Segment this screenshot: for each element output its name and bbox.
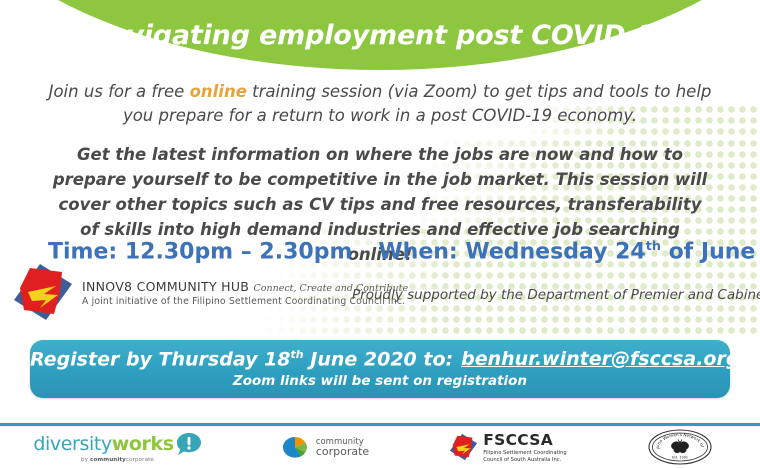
time-label: Time: 12.30pm – 2.30pm: [48, 239, 352, 264]
community-corporate-wordmark: community corporate: [316, 438, 369, 456]
diversity-works-subline: by communitycorporate: [81, 457, 154, 463]
register-mid: June 2020 to:: [304, 348, 453, 370]
corporate-word: corporate: [316, 447, 369, 456]
community-corporate-swirl-icon: [281, 434, 311, 460]
diversity-works-wordmark: diversity works: [33, 432, 201, 456]
flyer-page: Navigating employment post COVID-19 Join…: [0, 0, 760, 468]
register-banner: Register by Thursday 18th June 2020 to:b…: [30, 340, 730, 398]
footer-slot-community-corporate: community corporate: [235, 426, 415, 468]
innov8-diamond-icon: [10, 262, 74, 324]
dw-sub-rest: corporate: [126, 457, 154, 463]
diversity-word: diversity: [33, 433, 111, 455]
register-email-link[interactable]: benhur.winter@fsccsa.org.au: [461, 348, 760, 370]
footer-slot-diversity-works: diversity works by communitycorporate: [0, 426, 235, 468]
when-label: When: Wednesday 24: [378, 239, 645, 264]
fsccsa-subline-1: Filipino Settlement Coordinating: [483, 450, 566, 456]
online-highlight: online: [190, 82, 247, 101]
register-line-primary: Register by Thursday 18th June 2020 to:b…: [30, 348, 730, 370]
dw-sub-prefix: by: [81, 457, 90, 463]
register-ordinal: th: [291, 348, 304, 361]
register-line-secondary: Zoom links will be sent on registration: [30, 373, 730, 389]
dw-sub-bold: community: [90, 457, 126, 463]
fsccsa-diamond-icon: [448, 433, 478, 462]
innov8-name: INNOV8 COMMUNITY HUB: [82, 279, 249, 294]
fsccsa-logo: FSCCSA Filipino Settlement Coordinating …: [448, 431, 566, 464]
community-corporate-logo: community corporate: [281, 434, 369, 460]
intro-text-before: Join us for a free: [49, 82, 190, 101]
fsccsa-text-block: FSCCSA Filipino Settlement Coordinating …: [483, 431, 566, 464]
fsccsa-acronym: FSCCSA: [483, 431, 566, 449]
when-ordinal: th: [646, 239, 661, 254]
speech-bubble-icon: [176, 432, 202, 456]
works-word: works: [112, 433, 174, 455]
footer-logo-bar: diversity works by communitycorporate: [0, 426, 760, 468]
innov8-logo-block: INNOV8 COMMUNITY HUB Connect, Create and…: [10, 262, 408, 324]
when-suffix: of June: [661, 239, 755, 264]
svg-text:Est. 1991: Est. 1991: [672, 456, 688, 460]
register-prefix: Register by Thursday 18: [30, 348, 291, 370]
supported-by-text: Proudly supported by the Department of P…: [352, 287, 752, 303]
page-title: Navigating employment post COVID-19: [0, 20, 760, 51]
diversity-works-logo: diversity works by communitycorporate: [33, 432, 201, 463]
session-schedule: Time: 12.30pm – 2.30pmWhen: Wednesday 24…: [48, 239, 712, 264]
footer-slot-fsccsa: FSCCSA Filipino Settlement Coordinating …: [415, 426, 600, 468]
intro-paragraph: Join us for a free online training sessi…: [48, 80, 712, 128]
fsccsa-subline-2: Council of South Australia Inc.: [483, 457, 566, 463]
footer-slot-womens-network: Filipino Women's Network of SA Est. 1991: [600, 426, 760, 468]
filipino-womens-network-seal-icon: Filipino Women's Network of SA Est. 1991: [647, 428, 713, 466]
